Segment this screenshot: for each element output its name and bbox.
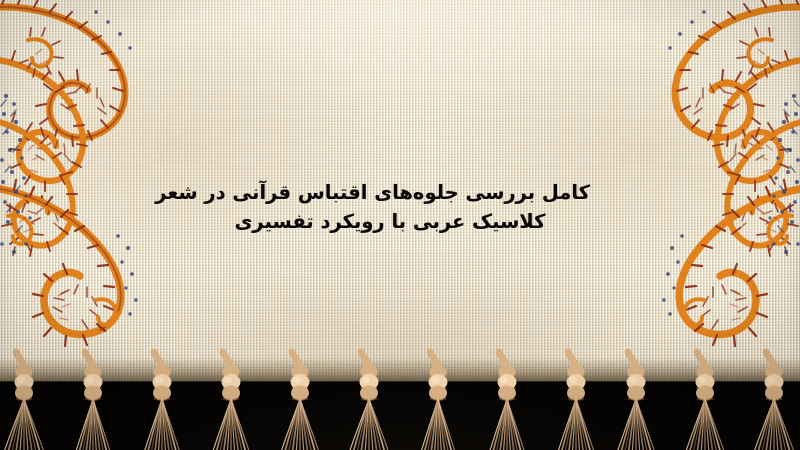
tassel: [349, 352, 389, 448]
tassel: [418, 352, 458, 448]
tassel: [142, 352, 182, 448]
tassel: [280, 352, 320, 448]
tassel-fringe: [0, 352, 800, 450]
tassel: [211, 352, 251, 448]
title-line-1: کامل بررسی جلوه‌های اقتباس قرآنی در شعر: [190, 178, 590, 207]
tassel: [487, 352, 527, 448]
tassel: [754, 352, 794, 448]
tassel: [685, 352, 725, 448]
tassel: [616, 352, 656, 448]
title-card-canvas: کامل بررسی جلوه‌های اقتباس قرآنی در شعر …: [0, 0, 800, 450]
title-line-2: کلاسیک عربی با رویکرد تفسیری: [190, 207, 590, 236]
page-title: کامل بررسی جلوه‌های اقتباس قرآنی در شعر …: [190, 178, 590, 236]
paisley-ornament-right: [570, 0, 800, 381]
tassel: [556, 352, 596, 448]
tassel: [4, 352, 44, 448]
tassel: [73, 352, 113, 448]
